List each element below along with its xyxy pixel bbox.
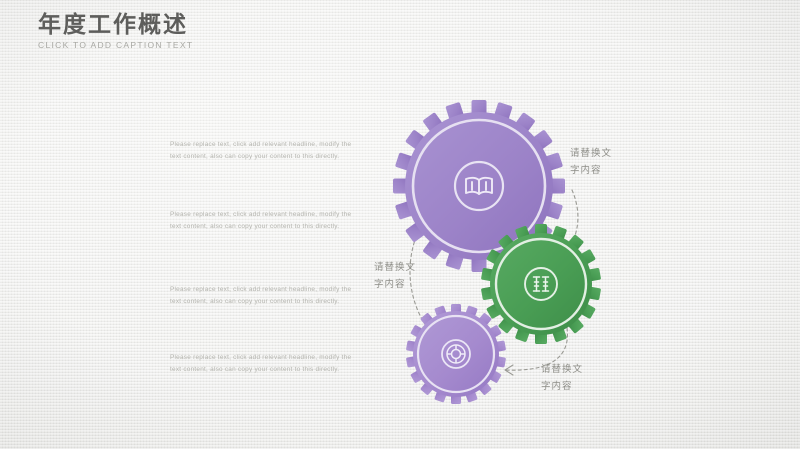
callout-2-line-1: 请替换文 (374, 260, 416, 277)
slide-header: 年度工作概述 CLICK TO ADD CAPTION TEXT (38, 12, 458, 50)
callout-1-line-1: 请替换文 (570, 146, 612, 163)
callout-label-3: 请替换文 字内容 (541, 362, 583, 395)
body-paragraph-1: Please replace text, click add relevant … (170, 139, 352, 163)
gear-middle[interactable] (481, 224, 601, 344)
callout-1-line-2: 字内容 (570, 163, 612, 180)
body-paragraph-3: Please replace text, click add relevant … (170, 284, 352, 308)
page-title: 年度工作概述 (38, 12, 458, 37)
callout-3-line-1: 请替换文 (541, 362, 583, 379)
callout-2-line-2: 字内容 (374, 277, 416, 294)
gear-middle-body (490, 233, 592, 335)
slide-canvas: 年度工作概述 CLICK TO ADD CAPTION TEXT Please … (0, 0, 800, 449)
body-paragraph-2: Please replace text, click add relevant … (170, 209, 352, 233)
callout-3-line-2: 字内容 (541, 379, 583, 396)
callout-label-2: 请替换文 字内容 (374, 260, 416, 293)
page-subtitle: CLICK TO ADD CAPTION TEXT (38, 40, 458, 50)
callout-label-1: 请替换文 字内容 (570, 146, 612, 179)
body-paragraph-4: Please replace text, click add relevant … (170, 352, 352, 376)
